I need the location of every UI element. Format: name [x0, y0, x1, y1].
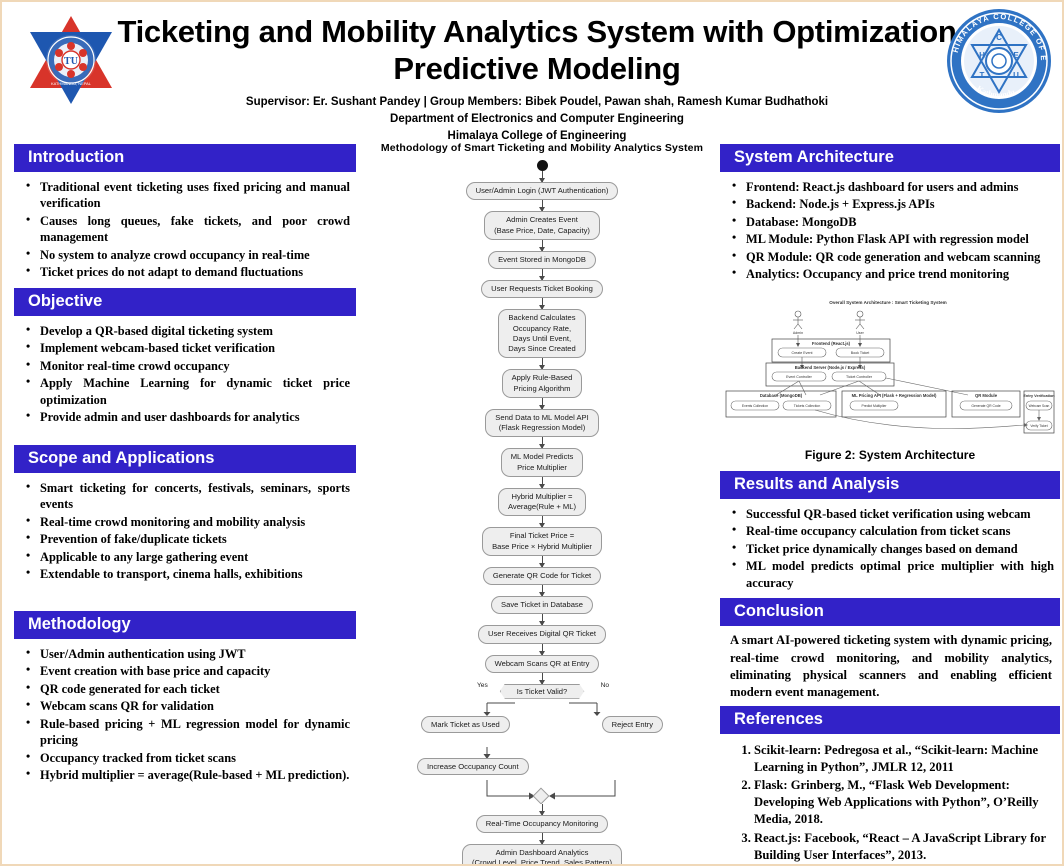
figure2-group-ml-api: ML Pricing API (Flask + Regression Model…	[852, 393, 937, 398]
flow-arrow-icon	[542, 171, 543, 182]
introduction-bullet-list: Traditional event ticketing uses fixed p…	[18, 179, 352, 281]
list-item: Prevention of fake/duplicate tickets	[38, 531, 350, 548]
flow-decision-is-ticket-valid: Is Ticket Valid?	[500, 684, 585, 699]
flow-node-text: Apply Rule-Based	[512, 373, 573, 383]
svg-text:H: H	[979, 51, 985, 60]
author-block: Supervisor: Er. Sushant Pandey | Group M…	[112, 94, 962, 144]
section-header-scope: Scope and Applications	[14, 445, 356, 473]
list-item: Occupancy tracked from ticket scans	[38, 750, 350, 767]
figure2-item-verify-ticket: Verify Ticket	[1030, 424, 1047, 428]
figure2-group-backend: Backend Server (Node.js / Express)	[795, 365, 866, 370]
references-list: Scikit-learn: Pedregosa et al., “Scikit-…	[720, 734, 1060, 866]
flow-node-text: Final Ticket Price =	[492, 531, 592, 541]
flow-node-webcam-scans: Webcam Scans QR at Entry	[485, 655, 600, 673]
flow-node-text: Save Ticket in Database	[501, 600, 583, 610]
flow-node-mark-ticket-used: Mark Ticket as Used	[421, 716, 510, 733]
flow-node-text: Base Price × Hybrid Multiplier	[492, 542, 592, 552]
page-title-line1: Ticketing and Mobility Analytics System …	[112, 14, 962, 51]
flow-node-admin-dashboard: Admin Dashboard Analytics (Crowd Level, …	[462, 844, 622, 866]
flow-node-generate-qr: Generate QR Code for Ticket	[483, 567, 601, 585]
list-item: Flask: Grinberg, M., “Flask Web Developm…	[754, 777, 1056, 828]
flow-node-user-receives-ticket: User Receives Digital QR Ticket	[478, 625, 606, 643]
figure2-svg: Overall System Architecture : Smart Tick…	[720, 295, 1056, 437]
flow-node-text: Send Data to ML Model API	[495, 413, 588, 423]
page-title: Ticketing and Mobility Analytics System …	[112, 14, 962, 87]
figure2-item-tickets-collection: Tickets Collection	[794, 404, 821, 408]
list-item: Applicable to any large gathering event	[38, 549, 350, 566]
section-results-and-analysis: Results and Analysis Successful QR-based…	[720, 471, 1060, 594]
figure2-item-ticket-controller: Ticket Controller	[846, 375, 873, 379]
list-item: Extendable to transport, cinema halls, e…	[38, 566, 350, 583]
list-item: Backend: Node.js + Express.js APIs	[744, 196, 1054, 213]
list-item: ML Module: Python Flask API with regress…	[744, 231, 1054, 248]
svg-text:U: U	[1013, 71, 1019, 80]
flow-merge-connectors	[417, 778, 667, 804]
flow-node-text: (Crowd Level, Price Trend, Sales Pattern…	[472, 858, 612, 866]
flow-node-text: Price Multiplier	[511, 463, 574, 473]
right-column: System Architecture Frontend: React.js d…	[720, 144, 1060, 866]
list-item: Event creation with base price and capac…	[38, 663, 350, 680]
poster-canvas: TU KATHMANDU, NEPAL Ticketing and Mobili…	[0, 0, 1064, 866]
section-references: References Scikit-learn: Pedregosa et al…	[720, 706, 1060, 866]
flow-branch-label-yes: Yes	[477, 682, 488, 689]
objective-bullet-list: Develop a QR-based digital ticketing sys…	[18, 323, 352, 426]
flow-arrow-icon	[542, 556, 543, 567]
flow-arrow-icon	[542, 614, 543, 625]
section-header-introduction: Introduction	[14, 144, 356, 172]
figure2-group-database: Database (MongoDB)	[760, 393, 803, 398]
figure2-item-create-event: Create Event	[792, 351, 813, 355]
flow-node-text: Pricing Algorithm	[512, 384, 573, 394]
list-item: QR Module: QR code generation and webcam…	[744, 249, 1054, 266]
flow-node-text: Webcam Scans QR at Entry	[495, 659, 590, 669]
flow-decision-wrapper: Is Ticket Valid? Yes No	[427, 684, 657, 702]
list-item: Implement webcam-based ticket verificati…	[38, 340, 350, 357]
flow-node-text: Real-Time Occupancy Monitoring	[486, 819, 598, 829]
flow-branch-connectors	[417, 702, 667, 716]
flow-node-text: Days Until Event,	[508, 334, 576, 344]
flow-node-reject-entry: Reject Entry	[602, 716, 663, 733]
flow-occupancy-row: Increase Occupancy Count	[417, 758, 667, 778]
conclusion-paragraph: A smart AI-powered ticketing system with…	[720, 626, 1060, 706]
flow-arrow-icon	[542, 269, 543, 280]
flow-node-hybrid-multiplier: Hybrid Multiplier = Average(Rule + ML)	[498, 488, 586, 517]
list-item: Traditional event ticketing uses fixed p…	[38, 179, 350, 212]
supervisor-and-members: Supervisor: Er. Sushant Pandey | Group M…	[112, 94, 962, 111]
figure2-architecture-diagram: Overall System Architecture : Smart Tick…	[720, 295, 1060, 462]
flow-arrow-icon	[542, 240, 543, 251]
figure2-item-predict-multiplier: Predict Multiplier	[861, 404, 887, 408]
flow-node-text: Occupancy Rate,	[508, 324, 576, 334]
figure1-diagram-title: Methodology of Smart Ticketing and Mobil…	[368, 142, 716, 154]
flow-node-realtime-occupancy: Real-Time Occupancy Monitoring	[476, 815, 608, 833]
list-item: Monitor real-time crowd occupancy	[38, 358, 350, 375]
section-objective: Objective Develop a QR-based digital tic…	[14, 288, 356, 429]
flow-node-final-ticket-price: Final Ticket Price = Base Price × Hybrid…	[482, 527, 602, 556]
figure2-item-events-collection: Events Collection	[742, 404, 768, 408]
list-item: Hybrid multiplier = average(Rule-based +…	[38, 767, 350, 784]
list-item: User/Admin authentication using JWT	[38, 646, 350, 663]
flow-start-node-icon	[537, 160, 548, 171]
flow-node-create-event: Admin Creates Event (Base Price, Date, C…	[484, 211, 600, 240]
list-item: Webcam scans QR for validation	[38, 698, 350, 715]
section-system-architecture: System Architecture Frontend: React.js d…	[720, 144, 1060, 286]
list-item: React.js: Facebook, “React – A JavaScrip…	[754, 830, 1056, 864]
list-item: Database: MongoDB	[744, 214, 1054, 231]
results-bullet-list: Successful QR-based ticket verification …	[724, 506, 1056, 592]
figure2-item-generate-qr-code: Generate QR Code	[971, 404, 1000, 408]
methodology-bullet-list: User/Admin authentication using JWT Even…	[18, 646, 352, 784]
flow-node-text: Admin Dashboard Analytics	[472, 848, 612, 858]
flow-node-increase-occupancy: Increase Occupancy Count	[417, 758, 529, 775]
flow-node-text: Generate QR Code for Ticket	[493, 571, 591, 581]
flow-branch-row: Mark Ticket as Used Reject Entry	[417, 716, 667, 746]
title-block: Ticketing and Mobility Analytics System …	[112, 14, 962, 144]
svg-text:E: E	[1013, 51, 1019, 60]
list-item: Scikit-learn: Pedregosa et al., “Scikit-…	[754, 742, 1056, 776]
flow-arrow-icon	[542, 358, 543, 369]
flow-node-ml-predicts: ML Model Predicts Price Multiplier	[501, 448, 584, 477]
flow-arrow-icon	[542, 298, 543, 309]
flow-node-text: User Requests Ticket Booking	[491, 284, 593, 294]
figure2-group-qr-module: QR Module	[975, 393, 998, 398]
center-column: Methodology of Smart Ticketing and Mobil…	[368, 142, 716, 866]
list-item: Provide admin and user dashboards for an…	[38, 409, 350, 426]
figure2-actor-admin: Admin	[793, 331, 803, 335]
poster-header: TU KATHMANDU, NEPAL Ticketing and Mobili…	[2, 2, 1062, 136]
flow-node-save-ticket: Save Ticket in Database	[491, 596, 593, 614]
flow-arrow-icon	[542, 673, 543, 684]
section-conclusion: Conclusion A smart AI-powered ticketing …	[720, 598, 1060, 705]
list-item: Successful QR-based ticket verification …	[744, 506, 1054, 523]
page-title-line2: Predictive Modeling	[112, 51, 962, 88]
list-item: No system to analyze crowd occupancy in …	[38, 247, 350, 264]
flow-arrow-icon	[542, 477, 543, 488]
flow-branch-label-no: No	[601, 682, 609, 689]
list-item: Rule-based pricing + ML regression model…	[38, 716, 350, 749]
section-header-system-architecture: System Architecture	[720, 144, 1060, 172]
flow-arrow-icon	[542, 200, 543, 211]
flow-node-text: Backend Calculates	[508, 313, 576, 323]
flow-node-text: Average(Rule + ML)	[508, 502, 576, 512]
hce-logo-svg: C H E T U HIMALAYA COLLEGE OF ENGINEERIN…	[944, 6, 1054, 116]
section-header-conclusion: Conclusion	[720, 598, 1060, 626]
svg-text:KATHMANDU, NEPAL: KATHMANDU, NEPAL	[51, 81, 92, 86]
flow-node-backend-calculates: Backend Calculates Occupancy Rate, Days …	[498, 309, 586, 358]
section-introduction: Introduction Traditional event ticketing…	[14, 144, 356, 284]
flow-merge-connector-svg	[417, 778, 667, 804]
himalaya-college-of-engineering-logo: C H E T U HIMALAYA COLLEGE OF ENGINEERIN…	[944, 6, 1054, 116]
flow-node-text: Days Since Created	[508, 344, 576, 354]
figure2-title-text: Overall System Architecture : Smart Tick…	[829, 300, 946, 305]
svg-text:TU: TU	[64, 56, 78, 67]
list-item: Frontend: React.js dashboard for users a…	[744, 179, 1054, 196]
flow-yes-branch-arrow-wrap	[417, 746, 667, 758]
figure2-group-frontend: Frontend (React.js)	[812, 341, 851, 346]
tu-logo-svg: TU KATHMANDU, NEPAL	[16, 10, 126, 110]
section-header-results: Results and Analysis	[720, 471, 1060, 499]
list-item: Real-time occupancy calculation from tic…	[744, 523, 1054, 540]
flow-node-text: User/Admin Login (JWT Authentication)	[476, 186, 609, 196]
department-line: Department of Electronics and Computer E…	[112, 111, 962, 128]
list-item: Smart ticketing for concerts, festivals,…	[38, 480, 350, 513]
list-item: Ticket prices do not adapt to demand flu…	[38, 264, 350, 281]
list-item: Apply Machine Learning for dynamic ticke…	[38, 375, 350, 408]
flow-node-text: (Base Price, Date, Capacity)	[494, 226, 590, 236]
flow-branch-connector-svg	[417, 702, 667, 716]
flow-node-send-to-ml-api: Send Data to ML Model API (Flask Regress…	[485, 409, 598, 438]
flow-node-text: ML Model Predicts	[511, 452, 574, 462]
flow-node-text: (Flask Regression Model)	[495, 423, 588, 433]
section-header-references: References	[720, 706, 1060, 734]
section-methodology: Methodology User/Admin authentication us…	[14, 611, 356, 787]
figure2-group-entry-verification: Entry Verification	[1023, 394, 1055, 398]
flow-arrow-icon	[542, 437, 543, 448]
svg-text:T: T	[980, 71, 985, 80]
flow-arrow-icon	[542, 644, 543, 655]
tribhuvan-university-logo: TU KATHMANDU, NEPAL	[16, 10, 126, 110]
flow-arrow-icon	[542, 585, 543, 596]
scope-bullet-list: Smart ticketing for concerts, festivals,…	[18, 480, 352, 583]
flow-node-request-booking: User Requests Ticket Booking	[481, 280, 603, 298]
section-scope-and-applications: Scope and Applications Smart ticketing f…	[14, 445, 356, 586]
flow-arrow-icon	[542, 398, 543, 409]
flow-node-event-stored: Event Stored in MongoDB	[488, 251, 596, 269]
list-item: Ticket price dynamically changes based o…	[744, 541, 1054, 558]
figure2-item-event-controller: Event Controller	[786, 375, 813, 379]
list-item: Real-time crowd monitoring and mobility …	[38, 514, 350, 531]
figure2-item-book-ticket: Book Ticket	[851, 351, 870, 355]
flow-arrow-icon	[542, 804, 543, 815]
list-item: QR code generated for each ticket	[38, 681, 350, 698]
flow-arrow-icon	[542, 516, 543, 527]
flow-arrow-icon	[542, 833, 543, 844]
list-item: Develop a QR-based digital ticketing sys…	[38, 323, 350, 340]
figure2-caption: Figure 2: System Architecture	[720, 448, 1060, 462]
flow-node-text: Event Stored in MongoDB	[498, 255, 586, 265]
section-header-methodology: Methodology	[14, 611, 356, 639]
flow-node-login: User/Admin Login (JWT Authentication)	[466, 182, 619, 200]
system-architecture-bullet-list: Frontend: React.js dashboard for users a…	[724, 179, 1056, 283]
svg-text:C: C	[996, 33, 1002, 42]
list-item: Causes long queues, fake tickets, and po…	[38, 213, 350, 246]
list-item: ML model predicts optimal price multipli…	[744, 558, 1054, 591]
figure2-actor-user: User	[856, 331, 864, 335]
left-column: Introduction Traditional event ticketing…	[14, 144, 356, 787]
flow-node-text: Admin Creates Event	[494, 215, 590, 225]
poster-columns: Introduction Traditional event ticketing…	[2, 138, 1062, 864]
methodology-flowchart: User/Admin Login (JWT Authentication) Ad…	[368, 160, 716, 866]
list-item: Analytics: Occupancy and price trend mon…	[744, 266, 1054, 283]
section-header-objective: Objective	[14, 288, 356, 316]
flow-node-rule-based-pricing: Apply Rule-Based Pricing Algorithm	[502, 369, 583, 398]
figure2-item-webcam-scan: Webcam Scan	[1029, 404, 1050, 408]
flow-node-text: User Receives Digital QR Ticket	[488, 629, 596, 639]
flow-node-text: Hybrid Multiplier =	[508, 492, 576, 502]
